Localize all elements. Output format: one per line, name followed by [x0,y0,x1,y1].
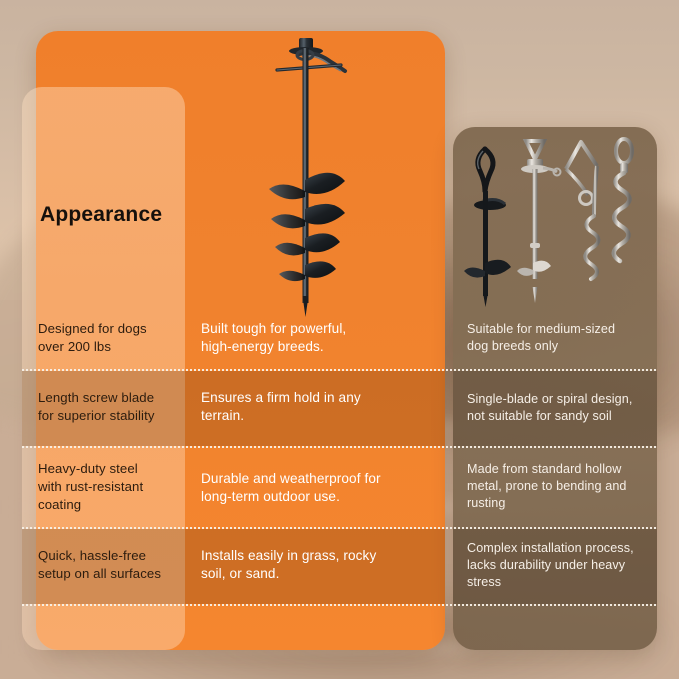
row-4-feature-text: Quick, hassle-free setup on all surfaces [22,547,185,583]
row-3-ours-cell: Durable and weatherproof for long-term o… [185,448,445,527]
row-2-theirs-text: Single-blade or spiral design, not suita… [453,391,657,425]
row-1-ours-cell: Built tough for powerful, high-energy br… [185,313,445,369]
row-4-theirs-text: Complex installation process, lacks dura… [453,540,657,591]
row-1-theirs-text: Suitable for medium-sized dog breeds onl… [453,321,657,355]
section-title: Appearance [40,203,162,227]
row-1-feature-cell: Designed for dogs over 200 lbs [22,313,185,369]
table-row: Designed for dogs over 200 lbs Built tou… [0,313,679,369]
row-1-ours-text: Built tough for powerful, high-energy br… [185,320,445,356]
row-1-feature-text: Designed for dogs over 200 lbs [22,320,185,356]
row-4-theirs-cell: Complex installation process, lacks dura… [453,529,657,604]
table-row: Heavy-duty steel with rust-resistant coa… [0,448,679,527]
row-2-ours-cell: Ensures a firm hold in any terrain. [185,371,445,446]
row-3-theirs-cell: Made from standard hollow metal, prone t… [453,448,657,527]
row-4-ours-cell: Installs easily in grass, rocky soil, or… [185,529,445,604]
row-4-ours-text: Installs easily in grass, rocky soil, or… [185,547,445,583]
row-3-theirs-text: Made from standard hollow metal, prone t… [453,461,657,512]
row-2-theirs-cell: Single-blade or spiral design, not suita… [453,371,657,446]
table-row: Length screw blade for superior stabilit… [0,371,679,446]
comparison-table: Appearance Designed for dogs over 200 lb… [0,0,679,679]
row-2-feature-text: Length screw blade for superior stabilit… [22,389,185,425]
row-4-feature-cell: Quick, hassle-free setup on all surfaces [22,529,185,604]
row-3-feature-cell: Heavy-duty steel with rust-resistant coa… [22,448,185,527]
row-separator-4 [22,604,657,606]
row-2-ours-text: Ensures a firm hold in any terrain. [185,389,445,425]
row-1-theirs-cell: Suitable for medium-sized dog breeds onl… [453,313,657,369]
table-row: Quick, hassle-free setup on all surfaces… [0,529,679,604]
row-3-ours-text: Durable and weatherproof for long-term o… [185,470,445,506]
row-2-feature-cell: Length screw blade for superior stabilit… [22,371,185,446]
row-3-feature-text: Heavy-duty steel with rust-resistant coa… [22,460,185,514]
